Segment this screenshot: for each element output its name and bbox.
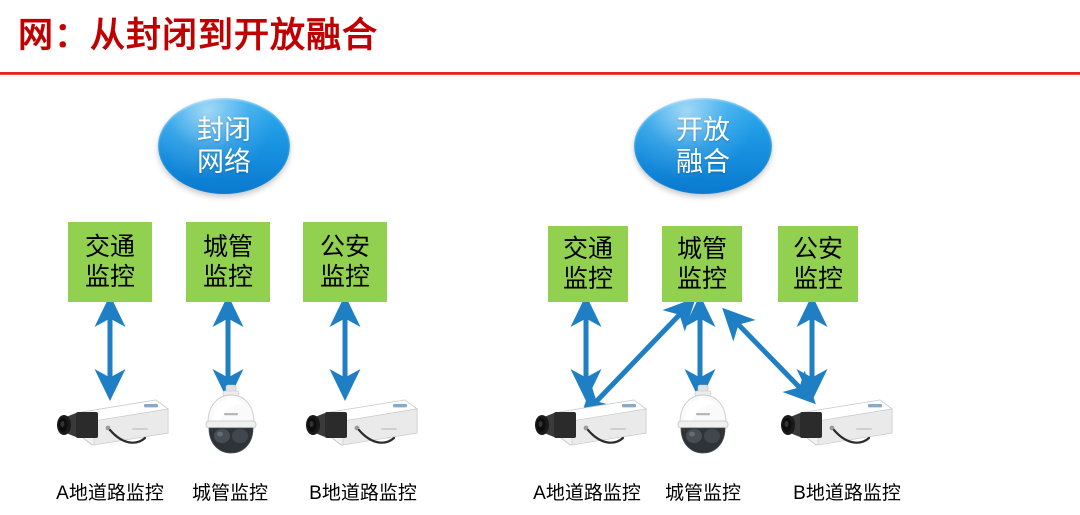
left-box-traffic-line-1: 交通 — [85, 232, 135, 262]
right-bubble-open-convergence: 开放 融合 — [634, 98, 772, 194]
left-box-urban-line-2: 监控 — [203, 262, 253, 292]
slide-canvas: 网：从封闭到开放融合 — [0, 0, 1080, 515]
box-camera-icon — [522, 388, 650, 458]
right-box-traffic-line-2: 监控 — [563, 264, 613, 294]
left-bubble-line-1: 封闭 — [197, 114, 251, 146]
left-box-traffic-line-2: 监控 — [85, 262, 135, 292]
left-caption-camera-b: B地道路监控 — [288, 478, 438, 505]
right-box-police-line-1: 公安 — [793, 234, 843, 264]
box-camera-icon — [44, 388, 172, 458]
right-box-camera-a — [522, 388, 650, 458]
right-connector-urban-to-camera-b — [734, 320, 804, 392]
right-box-urban-line-2: 监控 — [677, 264, 727, 294]
left-box-police-line-2: 监控 — [320, 262, 370, 292]
left-box-urban-line-1: 城管 — [203, 232, 253, 262]
left-box-urban-management-monitoring[interactable]: 城管 监控 — [186, 222, 270, 302]
right-box-traffic-monitoring[interactable]: 交通 监控 — [548, 226, 628, 302]
left-box-police-monitoring[interactable]: 公安 监控 — [303, 222, 387, 302]
right-box-camera-b — [768, 388, 896, 458]
right-box-police-monitoring[interactable]: 公安 监控 — [778, 226, 858, 302]
left-box-camera-a — [44, 388, 172, 458]
right-box-police-line-2: 监控 — [793, 264, 843, 294]
right-bubble-line-1: 开放 — [676, 114, 730, 146]
right-box-urban-line-1: 城管 — [677, 234, 727, 264]
right-caption-dome: 城管监控 — [638, 478, 768, 505]
title-divider — [0, 72, 1080, 75]
left-bubble-line-2: 网络 — [197, 146, 251, 178]
dome-camera-icon — [196, 383, 266, 461]
dome-camera-icon — [668, 383, 738, 461]
left-bubble-closed-network: 封闭 网络 — [158, 98, 290, 194]
left-dome-camera — [196, 383, 266, 461]
page-title: 网：从封闭到开放融合 — [18, 14, 378, 58]
right-box-traffic-line-1: 交通 — [563, 234, 613, 264]
right-caption-camera-b: B地道路监控 — [772, 478, 922, 505]
left-box-police-line-1: 公安 — [320, 232, 370, 262]
left-box-camera-b — [293, 388, 421, 458]
left-box-traffic-monitoring[interactable]: 交通 监控 — [68, 222, 152, 302]
box-camera-icon — [293, 388, 421, 458]
left-caption-dome: 城管监控 — [160, 478, 300, 505]
box-camera-icon — [768, 388, 896, 458]
right-bubble-line-2: 融合 — [676, 146, 730, 178]
right-box-urban-management-monitoring[interactable]: 城管 监控 — [662, 226, 742, 302]
right-dome-camera — [668, 383, 738, 461]
